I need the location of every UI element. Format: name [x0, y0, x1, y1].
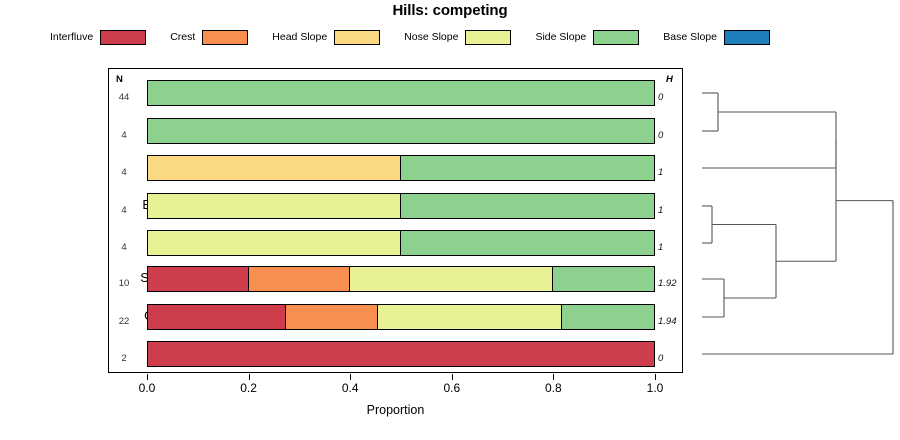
legend-entry: Interfluve — [50, 30, 146, 45]
legend-swatch — [202, 30, 248, 45]
x-tick — [553, 374, 554, 380]
bar-segment — [148, 231, 401, 255]
legend-label: Interfluve — [50, 31, 93, 43]
stacked-bar — [147, 341, 655, 367]
n-value: 22 — [112, 316, 136, 327]
n-value: 4 — [112, 242, 136, 253]
dendrogram — [684, 68, 900, 373]
legend-label: Base Slope — [663, 31, 717, 43]
legend-swatch — [334, 30, 380, 45]
stacked-bar — [147, 155, 655, 181]
n-value: 4 — [112, 130, 136, 141]
stacked-bar — [147, 80, 655, 106]
bar-segment — [148, 305, 286, 329]
bar-segment — [249, 267, 350, 291]
legend-entry: Crest — [170, 30, 248, 45]
stacked-bar — [147, 118, 655, 144]
bar-segment — [148, 267, 249, 291]
bar-segment — [148, 81, 654, 105]
legend-label: Nose Slope — [404, 31, 458, 43]
legend-swatch — [593, 30, 639, 45]
n-value: 44 — [112, 92, 136, 103]
bar-segment — [148, 342, 654, 366]
bar-segment — [350, 267, 552, 291]
x-tick — [350, 374, 351, 380]
legend-label: Crest — [170, 31, 195, 43]
stacked-bar — [147, 304, 655, 330]
x-tick — [249, 374, 250, 380]
bar-segment — [562, 305, 654, 329]
bar-segment — [148, 119, 654, 143]
stacked-bar — [147, 266, 655, 292]
n-value: 4 — [112, 205, 136, 216]
legend-swatch — [724, 30, 770, 45]
legend-entry: Head Slope — [272, 30, 380, 45]
x-tick — [147, 374, 148, 380]
x-tick-label: 1.0 — [635, 381, 675, 395]
n-value: 10 — [112, 278, 136, 289]
legend-label: Side Slope — [535, 31, 586, 43]
legend-entry: Base Slope — [663, 30, 770, 45]
h-column-header: H — [666, 74, 673, 85]
n-value: 2 — [112, 353, 136, 364]
stacked-bar — [147, 230, 655, 256]
chart-root: Hills: competing InterfluveCrestHead Slo… — [0, 0, 900, 440]
bar-segment — [286, 305, 378, 329]
bar-segment — [401, 231, 654, 255]
x-tick-label: 0.8 — [533, 381, 573, 395]
x-tick — [655, 374, 656, 380]
x-tick-label: 0.4 — [330, 381, 370, 395]
x-tick-label: 0.6 — [432, 381, 472, 395]
bar-segment — [148, 194, 401, 218]
legend-swatch — [465, 30, 511, 45]
x-tick — [452, 374, 453, 380]
bar-segment — [401, 194, 654, 218]
stacked-bar — [147, 193, 655, 219]
bar-segment — [148, 156, 401, 180]
legend-entry: Side Slope — [535, 30, 639, 45]
x-tick-label: 0.0 — [127, 381, 167, 395]
legend-entry: Nose Slope — [404, 30, 511, 45]
legend: InterfluveCrestHead SlopeNose SlopeSide … — [50, 27, 830, 47]
n-value: 4 — [112, 167, 136, 178]
bar-segment — [401, 156, 654, 180]
x-tick-label: 0.2 — [229, 381, 269, 395]
legend-label: Head Slope — [272, 31, 327, 43]
bar-segment — [378, 305, 562, 329]
bar-segment — [553, 267, 654, 291]
chart-title: Hills: competing — [0, 2, 900, 19]
x-axis-label: Proportion — [108, 403, 683, 417]
legend-swatch — [100, 30, 146, 45]
